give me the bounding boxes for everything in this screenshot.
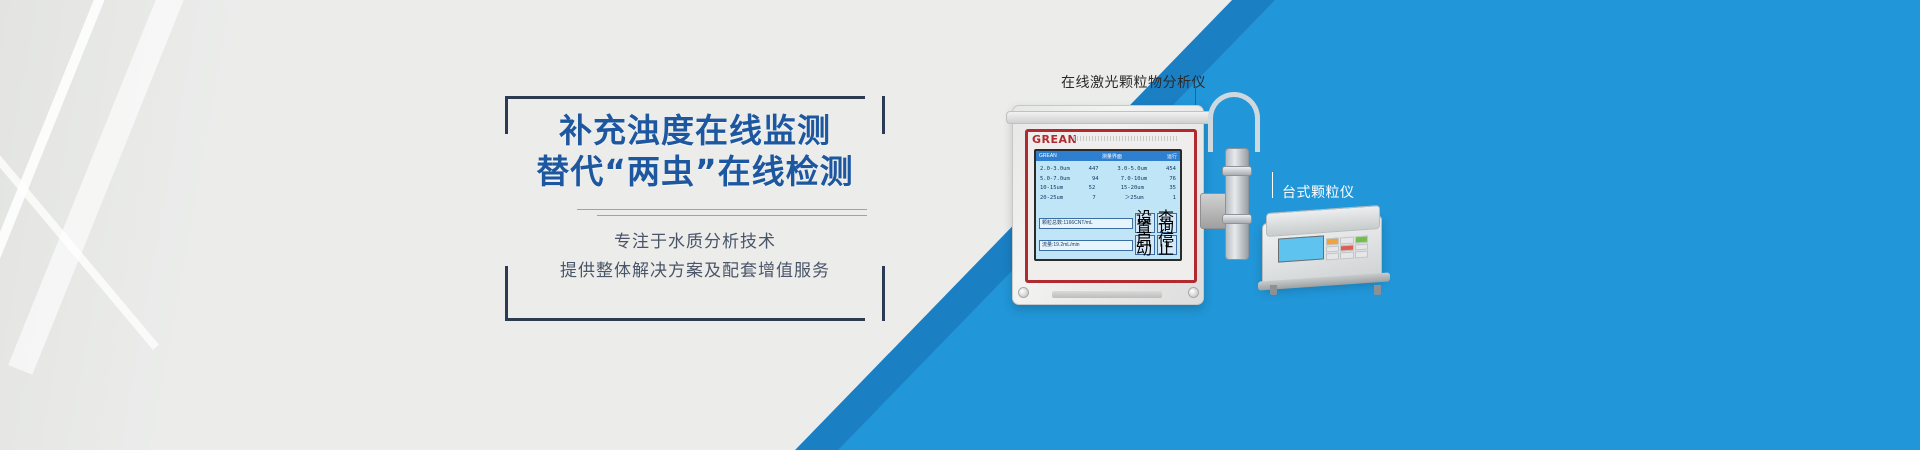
- bracket-top-rule: [505, 96, 865, 99]
- keypad-key[interactable]: [1326, 245, 1339, 253]
- online-laser-particle-analyzer: GREAN GREAN 测量界面 运行 2.0-3.0um 447 3.0-5.…: [1012, 105, 1204, 305]
- bracket-left-bottom: [505, 266, 508, 321]
- cell-range-a: 2.0-3.0um: [1040, 165, 1070, 175]
- cell-count-a: 7: [1092, 194, 1095, 204]
- desktop-counter-label: 台式颗粒仪: [1282, 182, 1355, 202]
- analyzer-bolt: [1188, 287, 1199, 298]
- status-row-flow: 流量:19.2mL/min 启动 停止: [1039, 235, 1177, 255]
- screen-title-bar: GREAN 测量界面 运行: [1036, 151, 1180, 161]
- page-title: 补充浊度在线监测 替代“两虫”在线检测: [519, 110, 871, 192]
- bracket-right-bottom: [882, 266, 885, 321]
- analyzer-hatch-pattern: [1074, 136, 1178, 141]
- cell-count-b: 1: [1173, 194, 1176, 204]
- table-row: 5.0-7.0um 94 7.0-10um 76: [1040, 175, 1176, 185]
- keypad-key[interactable]: [1340, 244, 1353, 252]
- table-row: 2.0-3.0um 447 3.0-5.0um 454: [1040, 165, 1176, 175]
- sample-tubing: [1208, 92, 1260, 152]
- keypad-key[interactable]: [1326, 253, 1339, 261]
- screen-button-start[interactable]: 启动: [1135, 235, 1155, 255]
- analyzer-display-screen[interactable]: GREAN 测量界面 运行 2.0-3.0um 447 3.0-5.0um 45…: [1034, 149, 1182, 261]
- inline-sensor-column: [1225, 148, 1249, 260]
- counter-keypad[interactable]: [1326, 236, 1368, 261]
- analyzer-label: 在线激光颗粒物分析仪: [1061, 72, 1206, 92]
- analyzer-brand-text: GREAN: [1032, 133, 1077, 146]
- divider-rule-lower: [597, 215, 867, 216]
- keypad-key[interactable]: [1355, 251, 1368, 259]
- table-row: 10-15um 52 15-20um 35: [1040, 184, 1176, 194]
- status-row-total: 颗粒总数:1166CNT/mL 设置 查询: [1039, 213, 1177, 233]
- cell-range-a: 10-15um: [1040, 184, 1063, 194]
- sensor-ring: [1222, 166, 1252, 176]
- desktop-counter-leader-line: [1272, 172, 1273, 198]
- keypad-key[interactable]: [1355, 243, 1368, 251]
- cell-range-a: 20-25um: [1040, 194, 1063, 204]
- subtitle-line-1: 专注于水质分析技术: [519, 228, 871, 257]
- analyzer-bolt: [1018, 287, 1029, 298]
- headline-block: 补充浊度在线监测 替代“两虫”在线检测 专注于水质分析技术 提供整体解决方案及配…: [505, 96, 885, 321]
- cell-count-b: 76: [1169, 175, 1176, 185]
- cell-count-a: 52: [1089, 184, 1096, 194]
- analyzer-bottom-strip: [1052, 291, 1162, 298]
- counter-display[interactable]: [1278, 235, 1324, 262]
- bracket-bottom-rule: [505, 318, 865, 321]
- headline-line-2: 替代“两虫”在线检测: [519, 151, 871, 192]
- desktop-particle-counter: [1262, 205, 1390, 301]
- hero-banner: 补充浊度在线监测 替代“两虫”在线检测 专注于水质分析技术 提供整体解决方案及配…: [0, 0, 1920, 450]
- keypad-key[interactable]: [1326, 238, 1339, 246]
- screen-title-left: GREAN: [1039, 153, 1057, 159]
- keypad-key[interactable]: [1355, 236, 1368, 244]
- total-count-readout: 颗粒总数:1166CNT/mL: [1039, 218, 1133, 229]
- sensor-ring: [1222, 214, 1252, 224]
- screen-status-area: 颗粒总数:1166CNT/mL 设置 查询 流量:19.2mL/min 启动 停…: [1039, 211, 1177, 255]
- cell-count-a: 94: [1092, 175, 1099, 185]
- subtitle: 专注于水质分析技术 提供整体解决方案及配套增值服务: [519, 228, 871, 286]
- flow-rate-readout: 流量:19.2mL/min: [1039, 240, 1133, 251]
- bracket-right-top: [882, 96, 885, 134]
- keypad-key[interactable]: [1340, 252, 1353, 260]
- cell-count-b: 35: [1169, 184, 1176, 194]
- cell-range-a: 5.0-7.0um: [1040, 175, 1070, 185]
- cell-range-b: ＞25um: [1125, 194, 1144, 204]
- cell-count-a: 447: [1089, 165, 1099, 175]
- screen-title-right: 运行: [1167, 153, 1177, 160]
- keypad-key[interactable]: [1340, 237, 1353, 245]
- headline-line-1: 补充浊度在线监测: [519, 110, 871, 151]
- subtitle-line-2: 提供整体解决方案及配套增值服务: [519, 257, 871, 286]
- analyzer-top-lip: [1006, 111, 1212, 124]
- screen-button-query[interactable]: 查询: [1157, 213, 1177, 233]
- counter-foot: [1270, 285, 1277, 295]
- cell-count-b: 454: [1166, 165, 1176, 175]
- cell-range-b: 7.0-10um: [1121, 175, 1148, 185]
- cell-range-b: 15-20um: [1121, 184, 1144, 194]
- screen-title-center: 测量界面: [1102, 153, 1122, 160]
- screen-button-settings[interactable]: 设置: [1135, 213, 1155, 233]
- divider-rule-upper: [577, 209, 867, 210]
- screen-data-table: 2.0-3.0um 447 3.0-5.0um 454 5.0-7.0um 94…: [1036, 161, 1180, 203]
- screen-button-stop[interactable]: 停止: [1157, 235, 1177, 255]
- counter-foot: [1374, 285, 1381, 295]
- bracket-left-top: [505, 96, 508, 134]
- cell-range-b: 3.0-5.0um: [1117, 165, 1147, 175]
- table-row: 20-25um 7 ＞25um 1: [1040, 194, 1176, 204]
